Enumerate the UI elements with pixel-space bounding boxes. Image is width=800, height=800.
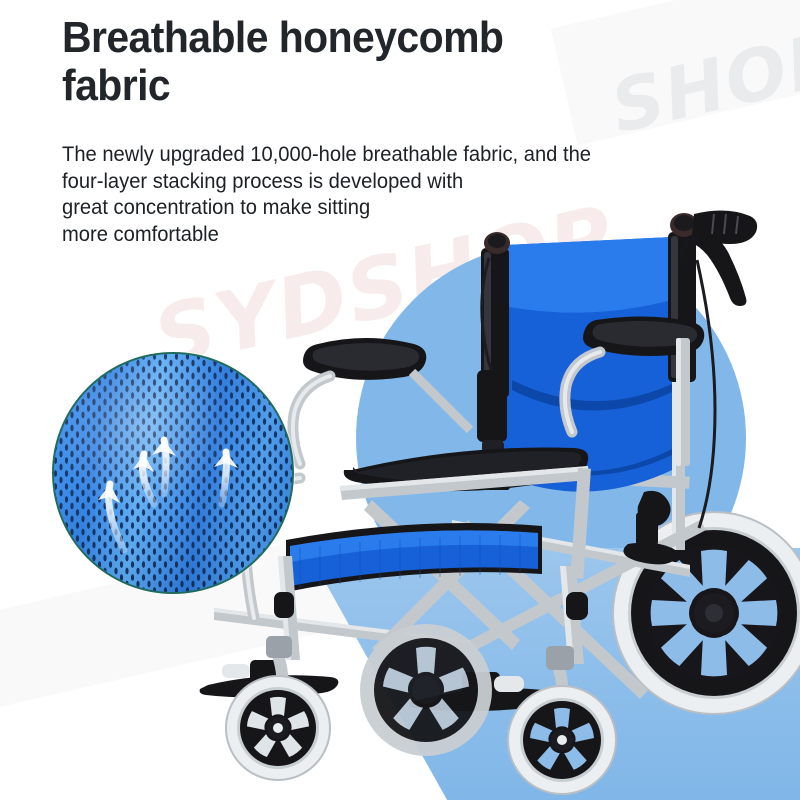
push-handle-left xyxy=(484,232,510,254)
calf-strap xyxy=(286,523,542,592)
caster-wheel-front-left xyxy=(226,676,330,780)
honeycomb-detail-circle xyxy=(52,352,294,594)
caster-wheel-front-right xyxy=(508,686,616,794)
airflow-arrows xyxy=(54,354,292,592)
caster-wheel-rear-hidden xyxy=(360,624,492,756)
product-feature-image: SYDSHOP SHOP Breathable honeycomb fabric… xyxy=(0,0,800,800)
armrest-left xyxy=(293,338,470,464)
